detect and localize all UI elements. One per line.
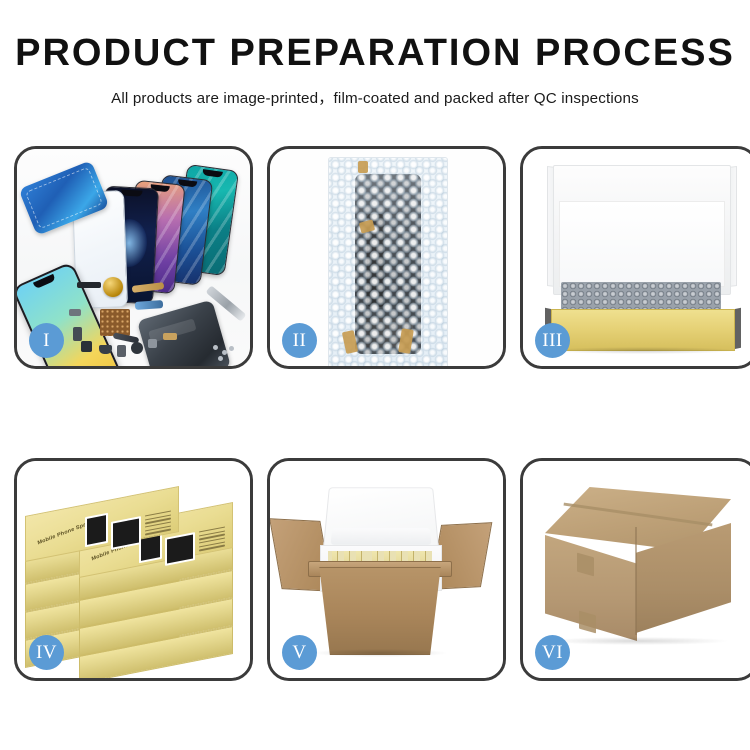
process-step-card-5[interactable]: V	[267, 458, 506, 681]
step-badge-3: III	[535, 323, 570, 358]
foam-lid-icon	[323, 487, 439, 550]
drop-shadow	[549, 347, 737, 354]
page-title: PRODUCT PREPARATION PROCESS	[0, 34, 750, 72]
gold-coil-part-icon	[103, 277, 123, 297]
box-window-right-icon	[111, 516, 141, 550]
step-badge-4: IV	[29, 635, 64, 670]
small-part-icon	[131, 342, 143, 354]
step-badge-2: II	[282, 323, 317, 358]
small-part-icon	[69, 309, 81, 316]
tape-strip-icon	[358, 161, 368, 173]
small-part-icon	[77, 282, 101, 288]
step-badge-6: VI	[535, 635, 570, 670]
kraft-box-tray-icon	[551, 309, 735, 351]
process-step-grid: I II I	[14, 146, 737, 681]
box-window-right-icon	[165, 532, 195, 566]
box-window-left-icon	[85, 513, 108, 547]
page-subtitle: All products are image-printed，film-coat…	[0, 86, 750, 108]
small-part-icon	[81, 341, 92, 352]
process-step-card-2[interactable]: II	[267, 146, 506, 369]
small-part-icon	[73, 327, 82, 341]
process-step-card-3[interactable]: III	[520, 146, 750, 369]
page-header: PRODUCT PREPARATION PROCESS All products…	[0, 0, 750, 108]
carton-body-icon	[314, 567, 446, 655]
drop-shadow	[314, 649, 446, 657]
step-badge-5: V	[282, 635, 317, 670]
phone-notch-icon	[33, 274, 56, 289]
screws-icon	[213, 345, 235, 361]
phone-notch-icon	[121, 190, 142, 197]
small-part-icon	[163, 333, 177, 340]
small-part-icon	[148, 339, 157, 348]
foam-sheet-icon	[559, 201, 725, 287]
step-badge-1: I	[29, 323, 64, 358]
bubble-wrapped-contents-icon	[561, 282, 721, 312]
small-part-icon	[117, 345, 126, 357]
small-part-icon	[99, 345, 112, 354]
process-step-card-4[interactable]: Mobile Phone Spare Parts Mobile Phone Sp…	[14, 458, 253, 681]
drop-shadow	[549, 637, 727, 645]
process-step-card-1[interactable]: I	[14, 146, 253, 369]
carton-vertical-edge	[635, 527, 637, 635]
process-step-card-6[interactable]: VI	[520, 458, 750, 681]
